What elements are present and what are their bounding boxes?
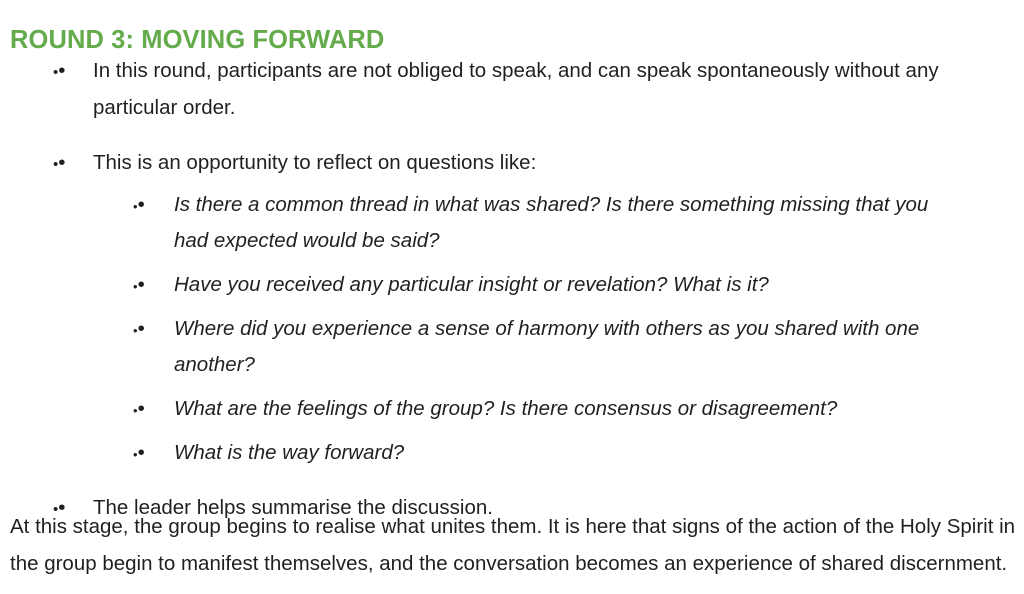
nested-list-item-text: Where did you experience a sense of harm… [174,311,939,383]
bullet-marker-icon: • [133,267,145,305]
list-item-text: This is an opportunity to reflect on que… [93,144,994,181]
nested-list-item: • Is there a common thread in what was s… [93,187,994,259]
list-item-text: In this round, participants are not obli… [93,52,994,126]
list-item: • In this round, participants are not ob… [0,52,1024,126]
bullet-marker-icon: • [133,311,145,349]
nested-list-item-text: What are the feelings of the group? Is t… [174,391,939,427]
nested-list-item: • What are the feelings of the group? Is… [93,391,994,427]
bullet-marker-icon: • [133,435,145,473]
nested-list-item-text: Is there a common thread in what was sha… [174,187,939,259]
nested-list-item: • What is the way forward? [93,435,994,471]
bullet-marker-icon: • [53,52,67,91]
nested-list-item: • Have you received any particular insig… [93,267,994,303]
bullet-marker-icon: • [53,144,67,183]
closing-paragraph: At this stage, the group begins to reali… [10,508,1016,582]
bullet-marker-icon: • [133,391,145,429]
nested-list-item-text: What is the way forward? [174,435,939,471]
section-heading: ROUND 3: MOVING FORWARD [10,25,384,55]
bullet-list: • In this round, participants are not ob… [0,52,1024,526]
list-item: • This is an opportunity to reflect on q… [0,144,1024,471]
document-page: ROUND 3: MOVING FORWARD • In this round,… [0,0,1024,594]
nested-list-item-text: Have you received any particular insight… [174,267,939,303]
nested-question-list: • Is there a common thread in what was s… [93,187,994,471]
nested-list-item: • Where did you experience a sense of ha… [93,311,994,383]
bullet-marker-icon: • [133,187,145,225]
